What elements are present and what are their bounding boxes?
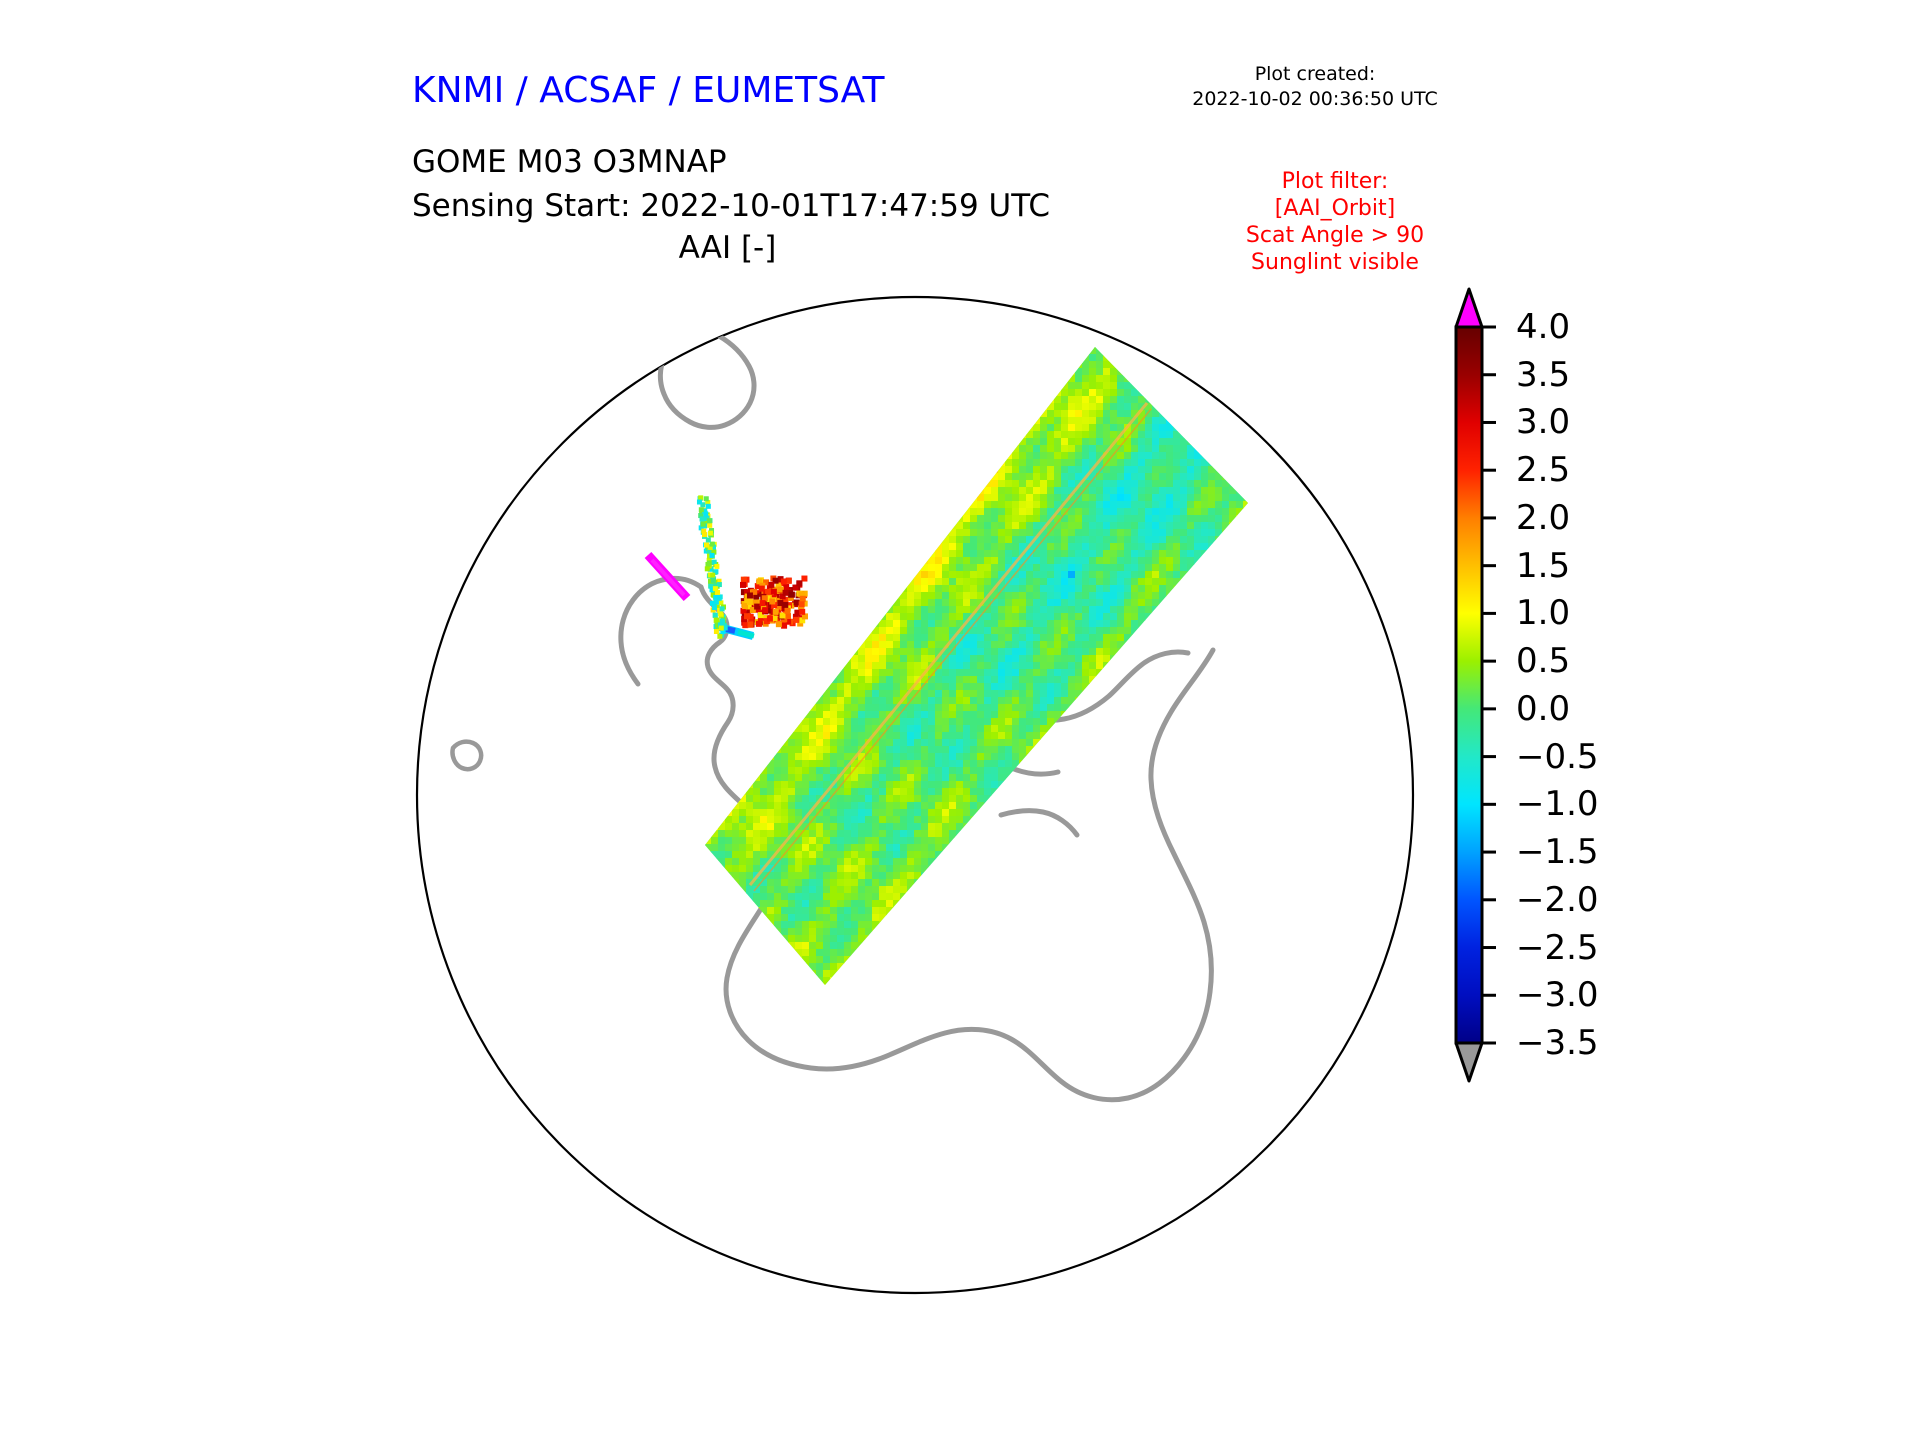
plot-created-label: Plot created: <box>1160 62 1470 87</box>
organisation-title: KNMI / ACSAF / EUMETSAT <box>412 70 884 111</box>
colorbar-graphic <box>1446 285 1506 1085</box>
colorbar-tick-label: −0.5 <box>1516 740 1599 774</box>
plot-created-timestamp: 2022-10-02 00:36:50 UTC <box>1160 87 1470 112</box>
plot-filter-line-2: Scat Angle > 90 <box>1190 222 1480 249</box>
map-plot-area <box>405 285 1425 1305</box>
colorbar-tick-label: −2.5 <box>1516 931 1599 965</box>
plot-filter-line-3: Sunglint visible <box>1190 249 1480 276</box>
colorbar-tick-label: 4.0 <box>1516 310 1570 344</box>
polar-stereographic-map <box>405 285 1425 1305</box>
colorbar-tick-label: 2.5 <box>1516 453 1570 487</box>
colorbar-gradient <box>1456 327 1482 1043</box>
colorbar-tick-label: 1.5 <box>1516 549 1570 583</box>
colorbar-tick-label: −1.5 <box>1516 835 1599 869</box>
plot-created-block: Plot created: 2022-10-02 00:36:50 UTC <box>1160 62 1470 112</box>
colorbar-tick-labels: 4.03.53.02.52.01.51.00.50.0−0.5−1.0−1.5−… <box>1516 285 1696 1085</box>
colorbar-tick-label: 0.5 <box>1516 644 1570 678</box>
colorbar-tick-label: −2.0 <box>1516 883 1599 917</box>
instrument-product-line: GOME M03 O3MNAP <box>412 140 1050 184</box>
colorbar-tick-label: −3.5 <box>1516 1026 1599 1060</box>
colorbar-tick-label: 1.0 <box>1516 596 1570 630</box>
colorbar-tick-marks <box>1482 327 1496 1043</box>
colorbar-tick-label: −1.0 <box>1516 787 1599 821</box>
colorbar-over-arrow <box>1456 289 1482 327</box>
plot-filter-block: Plot filter: [AAI_Orbit] Scat Angle > 90… <box>1190 168 1480 276</box>
colorbar-tick-label: −3.0 <box>1516 978 1599 1012</box>
colorbar-tick-label: 3.0 <box>1516 405 1570 439</box>
metadata-block: GOME M03 O3MNAP Sensing Start: 2022-10-0… <box>412 140 1050 228</box>
colorbar-tick-label: 3.5 <box>1516 358 1570 392</box>
colorbar-tick-label: 0.0 <box>1516 692 1570 726</box>
colorbar <box>1446 285 1506 1085</box>
colorbar-under-arrow <box>1456 1043 1482 1081</box>
plot-filter-line-1: [AAI_Orbit] <box>1190 195 1480 222</box>
sensing-start-line: Sensing Start: 2022-10-01T17:47:59 UTC <box>412 184 1050 228</box>
plot-filter-line-0: Plot filter: <box>1190 168 1480 195</box>
colorbar-tick-label: 2.0 <box>1516 501 1570 535</box>
